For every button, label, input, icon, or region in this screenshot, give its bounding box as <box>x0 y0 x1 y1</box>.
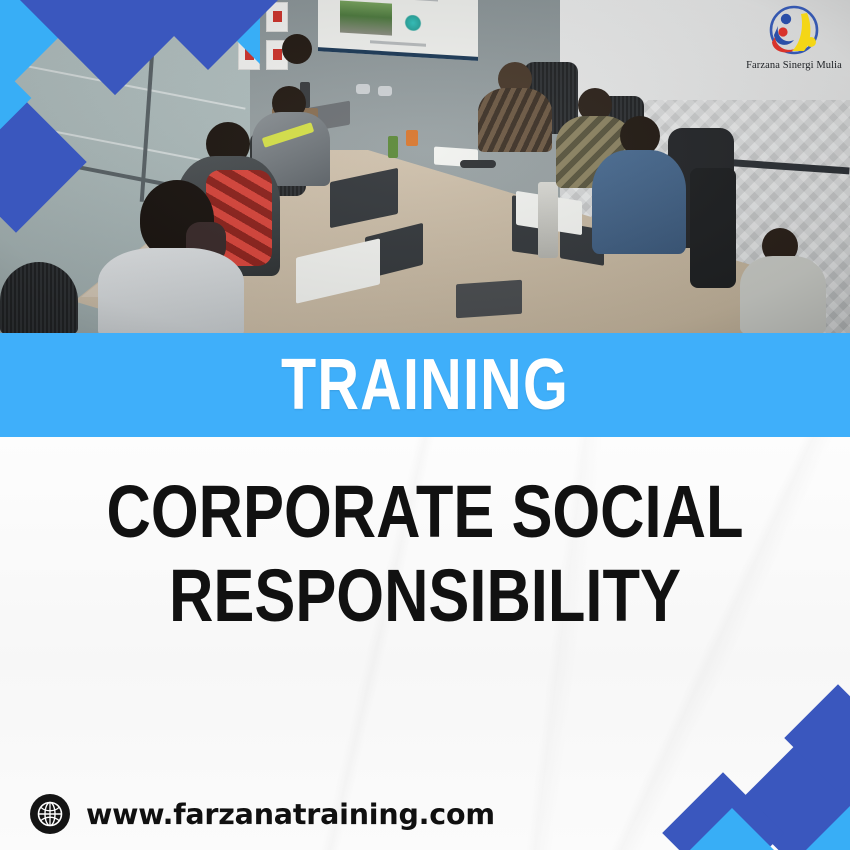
globe-icon <box>30 794 70 834</box>
beverage-cup <box>406 130 418 146</box>
slide-image <box>340 0 392 35</box>
headline-block: CORPORATE SOCIAL RESPONSIBILITY <box>0 470 850 638</box>
projector-screen <box>318 0 478 61</box>
drinking-glass <box>356 84 370 94</box>
beverage-bottle <box>388 136 398 158</box>
participant-body <box>478 88 552 152</box>
website-url[interactable]: www.farzanatraining.com <box>86 798 495 831</box>
water-flask <box>538 182 558 258</box>
banner-title: TRAINING <box>281 349 569 421</box>
headline-line-1: CORPORATE SOCIAL <box>72 470 778 554</box>
decor-bottom-right-front <box>690 790 850 850</box>
headline-line-2: RESPONSIBILITY <box>72 554 778 638</box>
website-footer[interactable]: www.farzanatraining.com <box>30 794 495 834</box>
farzana-logo-icon <box>742 4 846 60</box>
slide-graphic <box>404 14 422 31</box>
slide-text-line <box>358 0 438 1</box>
drinking-glass <box>378 86 392 96</box>
company-name-label: Farzana Sinergi Mulia <box>742 60 846 71</box>
training-photo: Farzana Sinergi Mulia <box>0 0 850 334</box>
training-banner: TRAINING <box>0 333 850 437</box>
participant-body-foreground <box>98 248 244 334</box>
office-chair <box>0 262 78 334</box>
participant-body <box>740 256 826 334</box>
remote-control <box>460 160 496 168</box>
office-chair <box>690 168 736 288</box>
poster-canvas: Farzana Sinergi Mulia TRAINING CORPORATE… <box>0 0 850 850</box>
participant-head <box>282 34 312 64</box>
participant-body <box>592 150 686 254</box>
slide-text-line <box>370 40 426 46</box>
laptop <box>456 280 522 319</box>
company-logo: Farzana Sinergi Mulia <box>742 4 846 82</box>
